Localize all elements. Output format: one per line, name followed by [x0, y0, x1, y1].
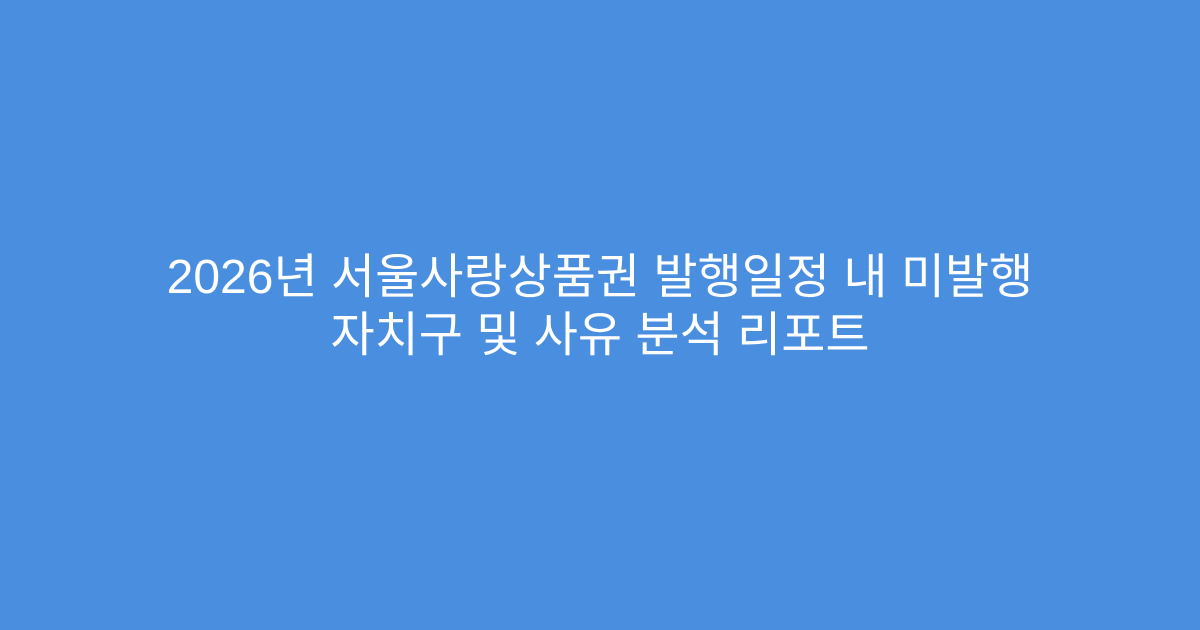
title-block: 2026년 서울사랑상품권 발행일정 내 미발행 자치구 및 사유 분석 리포트: [80, 249, 1120, 365]
page-title: 2026년 서울사랑상품권 발행일정 내 미발행 자치구 및 사유 분석 리포트: [100, 249, 1100, 365]
page-title-line-1: 2026년 서울사랑상품권 발행일정 내 미발행: [100, 249, 1100, 307]
og-image-card: 2026년 서울사랑상품권 발행일정 내 미발행 자치구 및 사유 분석 리포트: [0, 0, 1200, 630]
page-title-line-2: 자치구 및 사유 분석 리포트: [100, 307, 1100, 365]
